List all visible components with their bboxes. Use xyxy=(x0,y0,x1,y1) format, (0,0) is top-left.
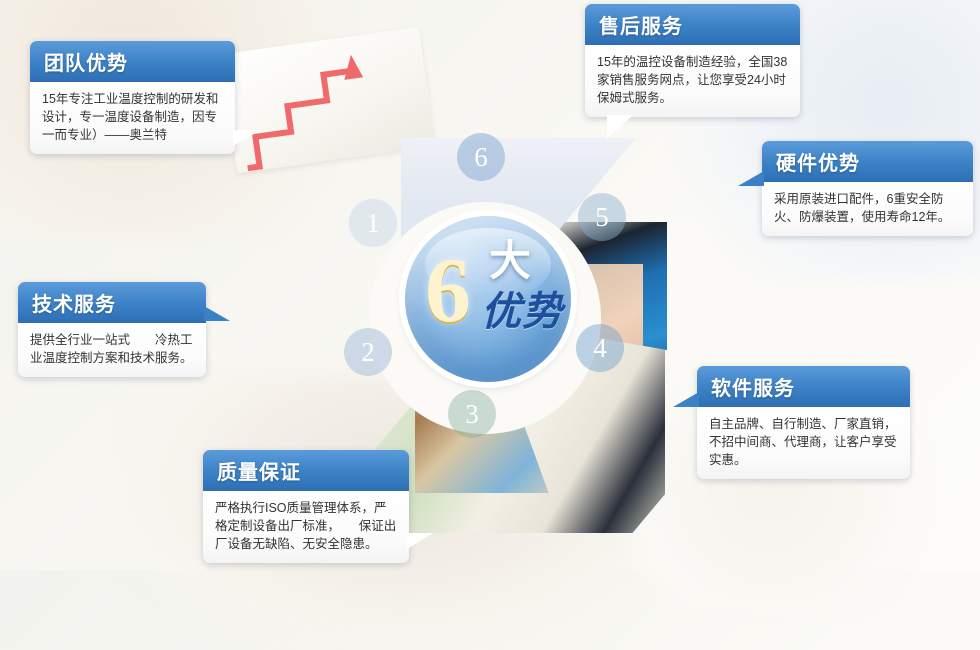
emblem-big-word: 大 xyxy=(489,240,531,282)
callout-after-sales-title: 售后服务 xyxy=(585,4,800,45)
callout-tech-title: 技术服务 xyxy=(18,282,206,323)
emblem-number: 6 xyxy=(425,244,471,336)
callout-software-title: 软件服务 xyxy=(697,366,910,407)
callout-team-advantage[interactable]: 团队优势 15年专注工业温度控制的研发和设计，专一温度设备制造，因专一而专业）—… xyxy=(30,41,235,154)
callout-tech-body: 提供全行业一站式 冷热工业温度控制方案和技术服务。 xyxy=(18,323,206,377)
marker-5[interactable]: 5 xyxy=(578,193,626,241)
callout-technical-service[interactable]: 技术服务 提供全行业一站式 冷热工业温度控制方案和技术服务。 xyxy=(18,282,206,377)
infographic-canvas: 6 大 优势 1 2 3 4 5 6 团队优势 15年专注工业温度控制的研发和设… xyxy=(0,0,980,570)
callout-software-service[interactable]: 软件服务 自主品牌、自行制造、厂家直销，不招中间商、代理商，让客户享受实惠。 xyxy=(697,366,910,479)
callout-quality-tail xyxy=(407,533,433,549)
marker-1[interactable]: 1 xyxy=(348,198,398,248)
callout-team-title: 团队优势 xyxy=(30,41,235,82)
center-emblem[interactable]: 6 大 优势 xyxy=(405,216,571,382)
marker-6[interactable]: 6 xyxy=(457,133,505,181)
callout-quality-assurance[interactable]: 质量保证 严格执行ISO质量管理体系，严格定制设备出厂标准， 保证出厂设备无缺陷… xyxy=(203,450,409,563)
marker-4[interactable]: 4 xyxy=(576,324,624,372)
callout-tech-tail xyxy=(204,306,230,321)
callout-after-sales-body: 15年的温控设备制造经验，全国38家销售服务网点，让您享受24小时保姆式服务。 xyxy=(585,45,800,117)
callout-quality-title: 质量保证 xyxy=(203,450,409,491)
callout-team-tail xyxy=(233,130,261,146)
callout-hardware-advantage[interactable]: 硬件优势 采用原装进口配件，6重安全防火、防爆装置，使用寿命12年。 xyxy=(762,141,973,236)
callout-hardware-tail xyxy=(738,171,764,186)
callout-after-sales-service[interactable]: 售后服务 15年的温控设备制造经验，全国38家销售服务网点，让您享受24小时保姆… xyxy=(585,4,800,117)
marker-2[interactable]: 2 xyxy=(344,328,392,376)
callout-quality-body: 严格执行ISO质量管理体系，严格定制设备出厂标准， 保证出厂设备无缺陷、无安全隐… xyxy=(203,491,409,563)
callout-software-body: 自主品牌、自行制造、厂家直销，不招中间商、代理商，让客户享受实惠。 xyxy=(697,407,910,479)
callout-hardware-title: 硬件优势 xyxy=(762,141,973,182)
marker-3[interactable]: 3 xyxy=(448,390,496,438)
callout-after-sales-tail xyxy=(607,115,633,139)
callout-hardware-body: 采用原装进口配件，6重安全防火、防爆装置，使用寿命12年。 xyxy=(762,182,973,236)
callout-team-body: 15年专注工业温度控制的研发和设计，专一温度设备制造，因专一而专业）——奥兰特 xyxy=(30,82,235,154)
emblem-advantage-word: 优势 xyxy=(481,290,563,334)
callout-software-tail xyxy=(673,392,699,407)
